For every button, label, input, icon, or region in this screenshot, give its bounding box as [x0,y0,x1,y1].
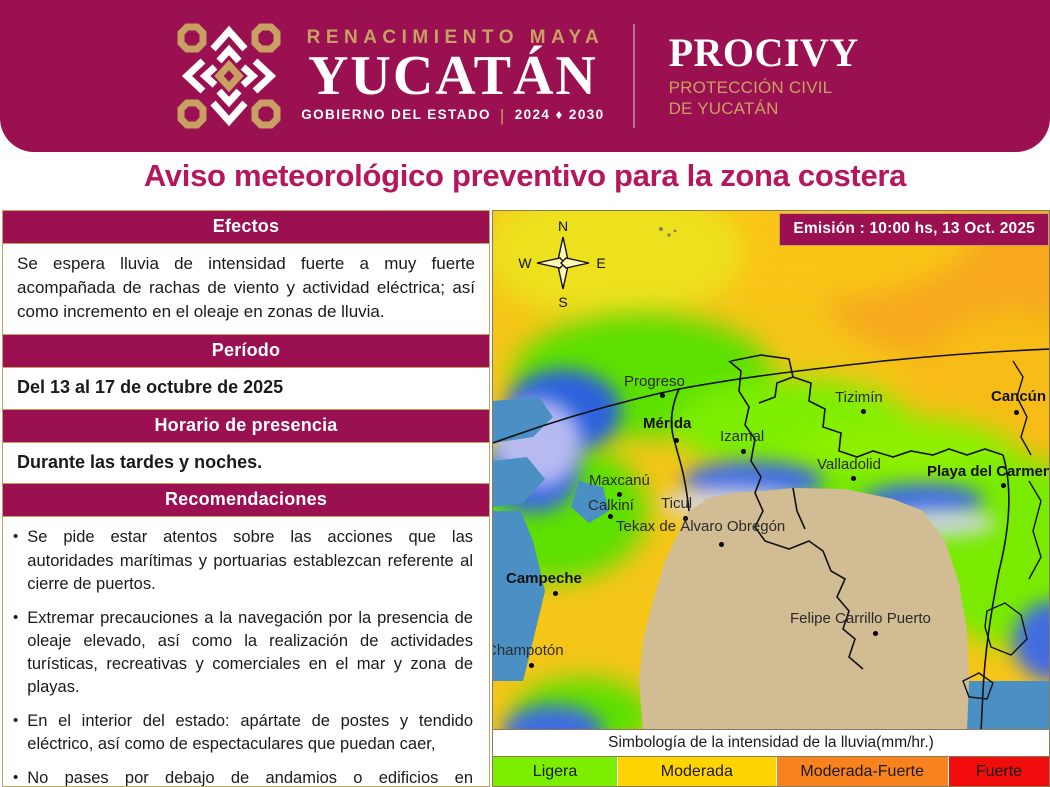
list-item-text: En el interior del estado: apártate de p… [27,710,473,756]
map-label-maxcanu: Maxcanú [589,473,650,488]
map-dot-cancun [1014,410,1019,415]
brand-divider-glyph: | [500,107,506,124]
map-dot-izamal [741,449,746,454]
map-label-campeche: Campeche [506,571,582,586]
map-dot-tekax [719,542,724,547]
compass-label-e: E [596,255,605,271]
page-title: Aviso meteorológico preventivo para la z… [0,158,1050,194]
map-dot-progreso [660,393,665,398]
section-body-periodo: Del 13 al 17 de octubre de 2025 [3,368,489,409]
list-item: • Extremar precauciones a la navegación … [13,607,473,699]
map-dot-champoton [529,663,534,668]
map-dot-calkini [608,514,613,519]
yucatan-maya-logo-icon [175,21,283,131]
map-dot-playa-del-carmen [1001,483,1006,488]
compass-rose-icon: N S W E [515,215,611,311]
procivy-subtitle-line-2: DE YUCATÁN [669,98,859,119]
header-vertical-divider [633,24,635,128]
brand-wordmark: YUCATÁN [308,48,598,105]
legend-cell-moderada-fuerte: Moderada-Fuerte [777,757,949,786]
map-label-merida: Mérida [643,416,691,431]
bullet-icon: • [13,607,18,699]
legend-cell-fuerte: Fuerte [949,757,1049,786]
legend-title: Simbología de la intensidad de la lluvia… [493,729,1049,757]
procivy-subtitle-line-1: PROTECCIÓN CIVIL [669,77,859,98]
procivy-title: PROCIVY [669,33,859,73]
emission-timestamp-badge: Emisión : 10:00 hs, 13 Oct. 2025 [779,213,1049,246]
list-item-text: Extremar precauciones a la navegación po… [27,607,473,699]
map-dot-merida [674,438,679,443]
brand-government-line: GOBIERNO DEL ESTADO | 2024 ♦ 2030 [301,107,604,124]
compass-label-w: W [518,255,532,271]
legend-cell-ligera: Ligera [493,757,618,786]
section-heading-efectos: Efectos [3,211,489,244]
list-item-text: No pases por debajo de andamios o edific… [27,767,473,787]
section-heading-horario: Horario de presencia [3,409,489,443]
list-item: • En el interior del estado: apártate de… [13,710,473,756]
bullet-icon: • [13,710,18,756]
map-dot-campeche [553,591,558,596]
list-item-text: Se pide estar atentos sobre las acciones… [27,526,473,595]
legend-scale: Ligera Moderada Moderada-Fuerte Fuerte [493,757,1049,786]
list-item: • Se pide estar atentos sobre las accion… [13,526,473,595]
recommendations-list: • Se pide estar atentos sobre las accion… [3,517,489,787]
map-label-progreso: Progreso [624,374,685,389]
map-label-ticul: Ticul [661,496,692,511]
map-label-tizimin: Tizimín [835,390,883,405]
map-label-valladolid: Valladolid [817,457,881,472]
section-body-horario: Durante las tardes y noches. [3,443,489,484]
map-dot-tizimin [861,409,866,414]
section-body-efectos: Se espera lluvia de intensidad fuerte a … [3,244,489,334]
bullet-icon: • [13,767,18,787]
map-label-champoton: Champotón [492,643,564,658]
brand-government-label: GOBIERNO DEL ESTADO [301,108,491,122]
list-item: • No pases por debajo de andamios o edif… [13,767,473,787]
brand-years-label: 2024 ♦ 2030 [515,108,605,122]
legend-cell-moderada: Moderada [618,757,776,786]
compass-label-s: S [558,294,567,310]
map-label-izamal: Izamal [720,429,764,444]
compass-label-n: N [558,218,568,234]
map-dot-felipe-carrillo-puerto [873,631,878,636]
section-heading-recomendaciones: Recomendaciones [3,483,489,517]
map-label-playa-del-carmen: Playa del Carmen [927,464,1050,479]
brand-header: RENACIMIENTO MAYA YUCATÁN GOBIERNO DEL E… [0,0,1050,152]
map-dot-valladolid [851,476,856,481]
map-label-calkini: Calkiní [588,498,634,513]
map-label-tekax: Tekax de Álvaro Obregón [616,519,785,534]
rainfall-intensity-map-panel: N S W E Emisión : 10:00 hs, 13 Oct. 2025… [492,210,1050,787]
map-label-cancun: Cancún [991,389,1046,404]
advisory-info-panel: Efectos Se espera lluvia de intensidad f… [2,210,490,787]
bullet-icon: • [13,526,18,595]
map-label-felipe-carrillo-puerto: Felipe Carrillo Puerto [790,611,931,626]
section-heading-periodo: Período [3,334,489,368]
